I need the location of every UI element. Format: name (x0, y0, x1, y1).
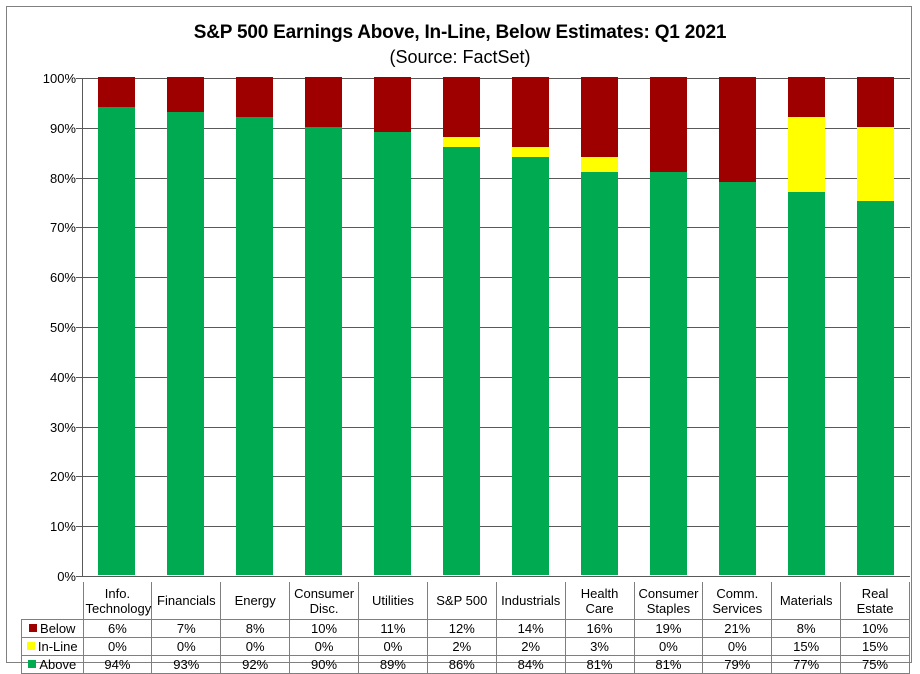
table-cell-value: 0% (290, 638, 359, 656)
table-cell-value: 10% (290, 620, 359, 638)
y-axis-tick-label: 70% (6, 221, 76, 234)
y-axis-tick-label: 60% (6, 271, 76, 284)
category-label: Staples (635, 601, 703, 616)
gridline (82, 576, 910, 577)
y-axis-tick (76, 377, 82, 378)
bar-segment-in-line[interactable] (581, 157, 618, 172)
category-label: Services (703, 601, 771, 616)
table-header-cell: Comm.Services (703, 582, 772, 620)
table-row: In-Line0%0%0%0%0%2%2%3%0%0%15%15% (22, 638, 910, 656)
table-cell-value: 8% (772, 620, 841, 638)
bar-segment-below[interactable] (857, 77, 894, 127)
table-cell-value: 19% (634, 620, 703, 638)
table-cell-value: 11% (359, 620, 428, 638)
table-header-cell: ConsumerStaples (634, 582, 703, 620)
table-cell-value: 0% (152, 638, 221, 656)
y-axis-tick (76, 227, 82, 228)
table-cell-value: 0% (703, 638, 772, 656)
table-cell-value: 10% (841, 620, 910, 638)
table-header-cell: Real Estate (841, 582, 910, 620)
legend-swatch-above-icon (28, 660, 36, 668)
plot-wrap: 0%10%20%30%40%50%60%70%80%90%100% (82, 78, 910, 582)
bar-segment-above[interactable] (719, 182, 756, 575)
chart-frame: S&P 500 Earnings Above, In-Line, Below E… (6, 6, 912, 663)
stacked-bar[interactable] (581, 77, 618, 575)
y-axis-tick (76, 526, 82, 527)
gridline (82, 427, 910, 428)
legend-swatch-below-icon (29, 624, 37, 632)
table-cell-value: 12% (427, 620, 496, 638)
stacked-bar[interactable] (98, 77, 135, 575)
bar-segment-below[interactable] (719, 77, 756, 182)
bar-segment-below[interactable] (581, 77, 618, 157)
category-label: Disc. (290, 601, 358, 616)
title-block: S&P 500 Earnings Above, In-Line, Below E… (7, 21, 913, 69)
y-axis-tick (76, 476, 82, 477)
table-cell-value: 16% (565, 620, 634, 638)
plot-area: 0%10%20%30%40%50%60%70%80%90%100% (82, 78, 910, 576)
bar-segment-below[interactable] (443, 77, 480, 137)
table-cell-value: 15% (841, 638, 910, 656)
legend-item-below[interactable]: Below (22, 620, 84, 638)
bar-segment-above[interactable] (650, 172, 687, 575)
bar-segment-in-line[interactable] (443, 137, 480, 147)
y-axis-tick-label: 20% (6, 470, 76, 483)
legend-label: Above (39, 658, 76, 673)
gridline (82, 526, 910, 527)
table-cell-value: 21% (703, 620, 772, 638)
bar-segment-below[interactable] (374, 77, 411, 132)
gridline (82, 128, 910, 129)
bar-segment-above[interactable] (857, 201, 894, 575)
bar-segment-below[interactable] (512, 77, 549, 147)
table-header-cell: Financials (152, 582, 221, 620)
y-axis-tick (76, 277, 82, 278)
data-table: Info.TechnologyFinancialsEnergyConsumerD… (21, 582, 910, 674)
gridline (82, 78, 910, 79)
category-label: Energy (221, 593, 289, 608)
bar-segment-in-line[interactable] (788, 117, 825, 192)
table-header-cell: Info.Technology (83, 582, 152, 620)
table-cell-value: 14% (496, 620, 565, 638)
category-label: Consumer (635, 586, 703, 601)
bar-segment-below[interactable] (305, 77, 342, 127)
gridline (82, 178, 910, 179)
category-label: Comm. (703, 586, 771, 601)
chart-title: S&P 500 Earnings Above, In-Line, Below E… (7, 21, 913, 45)
table-header-cell: Health Care (565, 582, 634, 620)
y-axis-tick (76, 427, 82, 428)
y-axis-tick-label: 50% (6, 321, 76, 334)
bar-segment-in-line[interactable] (512, 147, 549, 157)
table-cell-value: 3% (565, 638, 634, 656)
y-axis-tick-label: 100% (6, 72, 76, 85)
stacked-bar[interactable] (305, 77, 342, 575)
category-label: Financials (152, 593, 220, 608)
table-header-cell: ConsumerDisc. (290, 582, 359, 620)
gridline (82, 476, 910, 477)
y-axis-tick-label: 40% (6, 371, 76, 384)
stacked-bar[interactable] (857, 77, 894, 575)
table-cell-value: 0% (634, 638, 703, 656)
table-cell-value: 2% (427, 638, 496, 656)
category-label: Industrials (497, 593, 565, 608)
table-cell-value: 7% (152, 620, 221, 638)
gridline (82, 377, 910, 378)
table-header-cell: Utilities (359, 582, 428, 620)
stacked-bar[interactable] (512, 77, 549, 575)
category-label: Technology (84, 601, 152, 616)
category-label: Info. (84, 586, 152, 601)
stacked-bar[interactable] (788, 77, 825, 575)
category-label: Health Care (566, 586, 634, 616)
gridline (82, 227, 910, 228)
table-header-cell: Energy (221, 582, 290, 620)
table-header-row: Info.TechnologyFinancialsEnergyConsumerD… (22, 582, 910, 620)
category-label: Materials (772, 593, 840, 608)
bar-segment-above[interactable] (374, 132, 411, 575)
stacked-bar[interactable] (650, 77, 687, 575)
y-axis-tick (76, 576, 82, 577)
y-axis-tick (76, 178, 82, 179)
y-axis-tick-label: 30% (6, 421, 76, 434)
bar-segment-above[interactable] (305, 127, 342, 575)
table-header-cell: Industrials (496, 582, 565, 620)
gridline (82, 327, 910, 328)
y-axis-tick-label: 80% (6, 172, 76, 185)
category-label: Consumer (290, 586, 358, 601)
bar-segment-above[interactable] (581, 172, 618, 575)
table-cell-value: 6% (83, 620, 152, 638)
stacked-bar[interactable] (443, 77, 480, 575)
gridline (82, 277, 910, 278)
y-axis-tick (76, 78, 82, 79)
y-axis-tick (76, 128, 82, 129)
bar-segment-below[interactable] (650, 77, 687, 172)
bar-segment-above[interactable] (512, 157, 549, 575)
legend-label: In-Line (38, 640, 78, 655)
bar-segment-below[interactable] (98, 77, 135, 107)
category-label: S&P 500 (428, 593, 496, 608)
chart-subtitle: (Source: FactSet) (7, 45, 913, 69)
bar-segment-above[interactable] (443, 147, 480, 575)
bar-segment-above[interactable] (236, 117, 273, 575)
stacked-bar[interactable] (167, 77, 204, 575)
bar-segment-above[interactable] (788, 192, 825, 575)
table-row: Below6%7%8%10%11%12%14%16%19%21%8%10% (22, 620, 910, 638)
y-axis-tick-label: 10% (6, 520, 76, 533)
bar-segment-below[interactable] (236, 77, 273, 117)
legend-label: Below (40, 622, 75, 637)
category-label: Real Estate (841, 586, 909, 616)
stacked-bar[interactable] (236, 77, 273, 575)
table-cell-value: 15% (772, 638, 841, 656)
table-corner-cell (22, 582, 84, 620)
bar-segment-in-line[interactable] (857, 127, 894, 202)
y-axis-tick-label: 90% (6, 122, 76, 135)
table-cell-value: 0% (359, 638, 428, 656)
bar-segment-above[interactable] (167, 112, 204, 575)
table-header-cell: Materials (772, 582, 841, 620)
table-cell-value: 0% (221, 638, 290, 656)
category-label: Utilities (359, 593, 427, 608)
y-axis-tick (76, 327, 82, 328)
legend-swatch-in-line-icon (27, 642, 35, 650)
table-cell-value: 2% (496, 638, 565, 656)
bar-segment-above[interactable] (98, 107, 135, 575)
legend-item-in-line[interactable]: In-Line (22, 638, 84, 656)
table-header-cell: S&P 500 (427, 582, 496, 620)
stacked-bar[interactable] (374, 77, 411, 575)
table-cell-value: 0% (83, 638, 152, 656)
bar-segment-below[interactable] (788, 77, 825, 117)
stacked-bar[interactable] (719, 77, 756, 575)
table-cell-value: 8% (221, 620, 290, 638)
bar-segment-below[interactable] (167, 77, 204, 112)
